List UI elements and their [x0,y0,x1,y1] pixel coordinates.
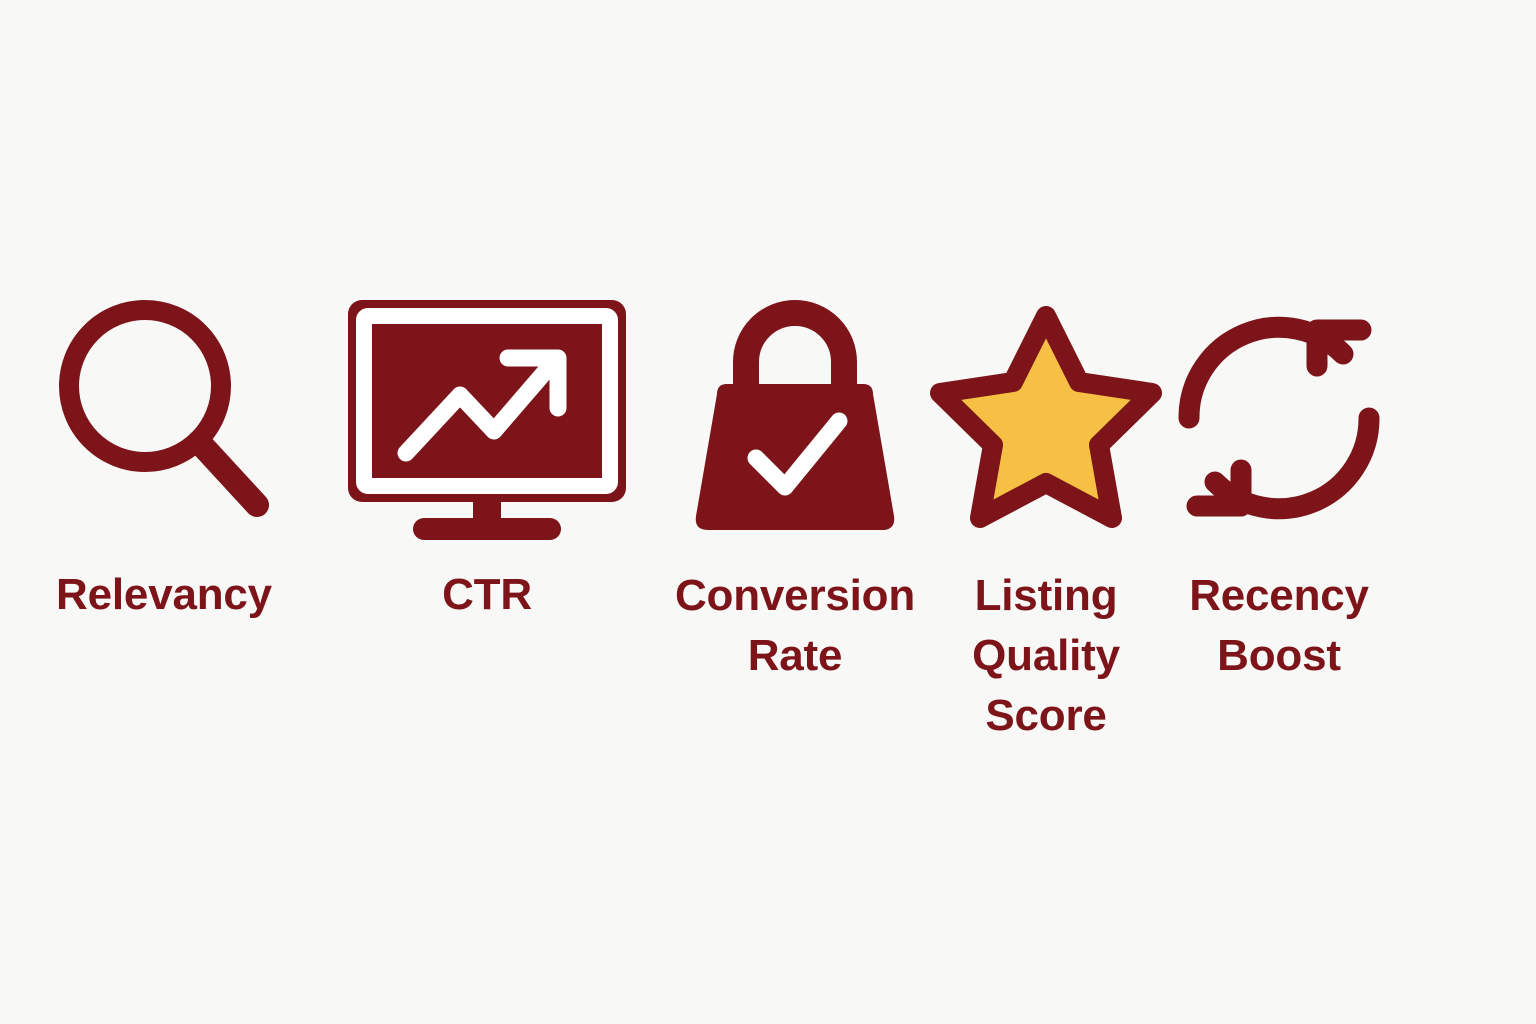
factor-listing-quality-score[interactable]: Listing Quality Score [938,280,1154,746]
magnifier-search-icon [49,280,279,550]
factor-recency-boost[interactable]: Recency Boost [1154,280,1404,686]
factor-label-conversion-rate: Conversion Rate [675,566,915,686]
shopping-bag-check-icon [684,280,906,550]
factor-label-recency-boost: Recency Boost [1189,566,1369,686]
factor-label-ctr: CTR [442,566,532,624]
factor-label-listing-quality-score: Listing Quality Score [972,566,1120,746]
factor-conversion-rate[interactable]: Conversion Rate [652,280,938,686]
factor-label-relevancy: Relevancy [56,566,272,624]
star-icon [938,280,1154,550]
monitor-trend-chart-icon [342,280,632,550]
factor-ctr[interactable]: CTR [322,280,652,624]
factor-relevancy[interactable]: Relevancy [6,280,322,624]
ranking-factors-row: Relevancy CTR [0,280,1536,746]
graphic-canvas: Relevancy CTR [0,0,1536,1024]
refresh-cycle-arrows-icon [1171,280,1387,550]
